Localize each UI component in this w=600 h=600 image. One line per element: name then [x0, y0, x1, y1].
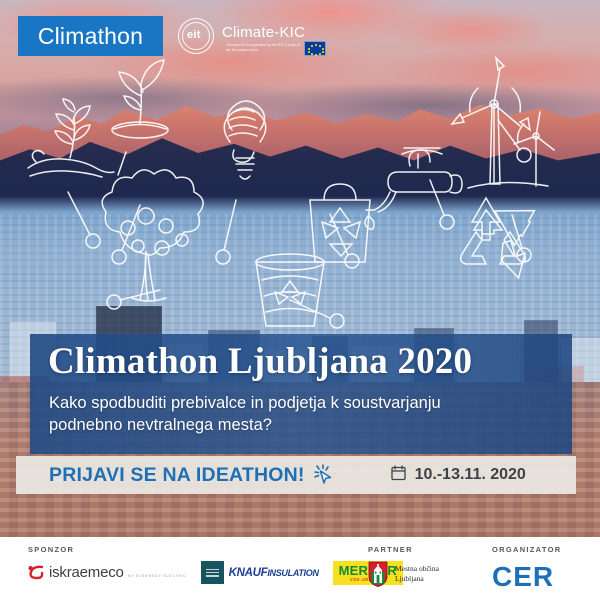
cta-bar: PRIJAVI SE NA IDEATHON! 10.-13.11. 2020 — [16, 456, 576, 494]
knauf-name2: INSULATION — [267, 568, 318, 578]
page-subtitle: Kako spodbuditi prebivalce in podjetja k… — [49, 392, 469, 437]
click-cursor-icon — [313, 464, 335, 486]
knauf-name: KNAUF — [229, 567, 268, 579]
iskraemeco-tagline: BY ELSEWEDY ELECTRIC — [128, 574, 186, 578]
partner-label: PARTNER — [368, 545, 439, 554]
register-cta-link[interactable]: PRIJAVI SE NA IDEATHON! — [49, 464, 305, 487]
climathon-logo-text: Climathon — [38, 23, 143, 50]
climate-kic-name: Climate-KIC — [222, 24, 305, 41]
partner-name-line2: Ljubljana — [395, 574, 424, 583]
event-date-group: 10.-13.11. 2020 — [391, 465, 526, 486]
european-union-flag-icon — [304, 41, 326, 56]
sponsor-label: SPONZOR — [28, 545, 403, 554]
eit-climate-kic-logo[interactable]: eit Climate-KIC Climate-KIC is supported… — [178, 14, 328, 60]
iskraemeco-mark-icon — [28, 565, 45, 580]
partner-group: PARTNER Mestna občina — [368, 545, 439, 587]
cer-name: CER — [492, 561, 554, 593]
kic-disclaimer-text: Climate-KIC is supported by the EIT, a b… — [226, 43, 300, 53]
organizer-group: ORGANIZATOR CER — [492, 545, 561, 593]
title-band: Climathon Ljubljana 2020 Kako spodbuditi… — [30, 334, 572, 454]
sponsor-logo-knauf-insulation[interactable]: KNAUFINSULATION — [201, 561, 319, 584]
iskraemeco-name: iskraemeco — [49, 564, 124, 581]
partner-logo-ljubljana[interactable]: Mestna občina Ljubljana — [368, 561, 439, 587]
event-date-text: 10.-13.11. 2020 — [415, 466, 526, 484]
footer-bar: SPONZOR iskraemeco BY ELSEWEDY ELECTRIC — [0, 537, 600, 600]
page-title: Climathon Ljubljana 2020 — [48, 340, 472, 383]
organizer-label: ORGANIZATOR — [492, 545, 561, 554]
calendar-icon — [391, 465, 406, 486]
knauf-square-icon — [201, 561, 224, 584]
poster-canvas: Climathon eit Climate-KIC Climate-KIC is… — [0, 0, 600, 600]
sponsor-group: SPONZOR iskraemeco BY ELSEWEDY ELECTRIC — [28, 545, 403, 585]
distant-skyline — [0, 214, 600, 268]
partner-name-line1: Mestna občina — [395, 564, 439, 573]
eit-logo-text: eit — [187, 29, 201, 41]
organizer-logo-cer[interactable]: CER — [492, 561, 561, 593]
climathon-logo[interactable]: Climathon — [18, 16, 163, 56]
ljubljana-coat-of-arms-icon — [368, 561, 388, 587]
sponsor-logo-iskraemeco[interactable]: iskraemeco BY ELSEWEDY ELECTRIC — [28, 565, 187, 581]
